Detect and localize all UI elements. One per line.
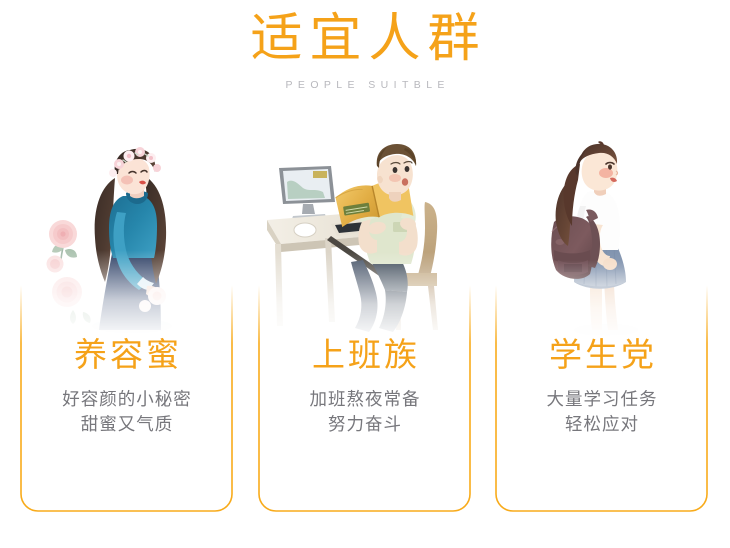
card-heading: 上班族 bbox=[258, 338, 471, 374]
card-description-line-2: 轻松应对 bbox=[495, 412, 708, 437]
card-description: 大量学习任务 轻松应对 bbox=[495, 374, 708, 437]
card-description-line-1: 大量学习任务 bbox=[495, 387, 708, 412]
card-description: 加班熬夜常备 努力奋斗 bbox=[258, 374, 471, 437]
card-description-line-1: 加班熬夜常备 bbox=[258, 387, 471, 412]
card-body: 上班族 加班熬夜常备 努力奋斗 bbox=[258, 338, 471, 437]
card-body: 养容蜜 好容颜的小秘密 甜蜜又气质 bbox=[20, 338, 233, 437]
woman-with-flower-crown-illustration bbox=[27, 140, 227, 340]
card-heading: 学生党 bbox=[495, 338, 708, 374]
card-yangrongmi[interactable]: 养容蜜 好容颜的小秘密 甜蜜又气质 bbox=[20, 260, 233, 512]
card-body: 学生党 大量学习任务 轻松应对 bbox=[495, 338, 708, 437]
card-xueshengdang[interactable]: 学生党 大量学习任务 轻松应对 bbox=[495, 260, 708, 512]
office-worker-at-desk-illustration bbox=[265, 140, 465, 340]
card-description-line-2: 努力奋斗 bbox=[258, 412, 471, 437]
card-description-line-1: 好容颜的小秘密 bbox=[20, 387, 233, 412]
card-description: 好容颜的小秘密 甜蜜又气质 bbox=[20, 374, 233, 437]
student-with-backpack-illustration bbox=[502, 140, 702, 340]
suitable-people-cards-row: 养容蜜 好容颜的小秘密 甜蜜又气质 bbox=[0, 0, 730, 548]
card-description-line-2: 甜蜜又气质 bbox=[20, 412, 233, 437]
card-heading: 养容蜜 bbox=[20, 338, 233, 374]
card-shangbanzu[interactable]: 上班族 加班熬夜常备 努力奋斗 bbox=[258, 260, 471, 512]
